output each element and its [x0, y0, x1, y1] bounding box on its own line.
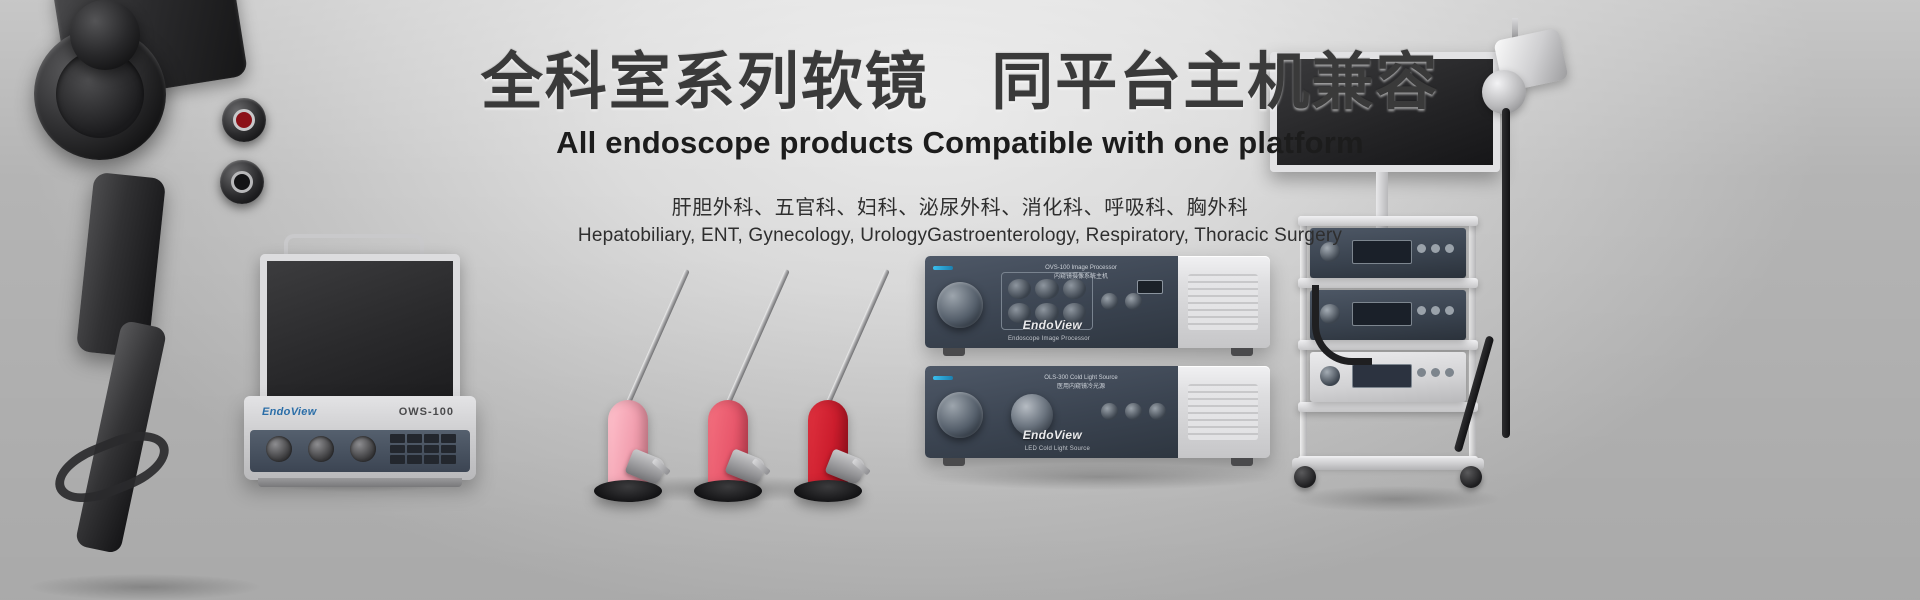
light-source-button: [1125, 403, 1142, 420]
keypad-key: [407, 455, 422, 464]
processor-status-lamp: [933, 266, 953, 270]
processor-title-text: OVS-100 Image Processor 内窥镜摄像系统主机: [1021, 264, 1141, 282]
module-knob: [1320, 366, 1340, 386]
keypad-key: [441, 434, 456, 443]
keypad-key: [390, 445, 405, 454]
processor-title-en: OVS-100 Image Processor: [1045, 265, 1117, 271]
light-source-output-port: [937, 392, 983, 438]
light-source-feet: [943, 458, 1253, 466]
banner-stage: 全科室系列软镜 同平台主机兼容 All endoscope products C…: [0, 0, 1920, 600]
processor-feet: [943, 348, 1253, 356]
headline-part-1: 全科室系列软镜: [481, 48, 929, 117]
shadow-endoscope: [30, 574, 260, 600]
workstation-display: [260, 254, 460, 404]
processor-button-grid: [1008, 279, 1086, 323]
mounted-endoscope-shaft-bend: [1454, 335, 1495, 453]
light-source-front-face: OLS-300 Cold Light Source 医用内窥镜冷光源 EndoV…: [925, 366, 1178, 458]
keypad-key: [407, 434, 422, 443]
module-button: [1431, 306, 1440, 315]
workstation-port-3: [350, 436, 376, 462]
subheadline-english: All endoscope products Compatible with o…: [0, 125, 1920, 161]
keypad-key: [424, 455, 439, 464]
workstation-model-label: OWS-100: [399, 406, 454, 418]
processor-brand-sub: Endoscope Image Processor: [1008, 336, 1090, 342]
processor-front-face: OVS-100 Image Processor 内窥镜摄像系统主机 EndoVi…: [925, 256, 1178, 348]
module-button: [1417, 306, 1426, 315]
module-display: [1352, 364, 1412, 388]
workstation-keypad: [390, 434, 456, 464]
trolley-caster-wheel-left: [1294, 466, 1316, 488]
keypad-key: [441, 445, 456, 454]
light-source-title-en: OLS-300 Cold Light Source: [1044, 375, 1117, 381]
light-source-brand-label: EndoView: [1023, 428, 1082, 442]
light-source-title-text: OLS-300 Cold Light Source 医用内窥镜冷光源: [1021, 374, 1141, 392]
keypad-key: [441, 455, 456, 464]
processor-button: [1008, 279, 1031, 299]
processor-button: [1063, 279, 1086, 299]
light-source-button: [1101, 403, 1118, 420]
keypad-key: [424, 434, 439, 443]
processor-small-button: [1101, 293, 1118, 310]
processor-main-knob: [937, 282, 983, 328]
light-source-vent-grille: [1188, 384, 1258, 440]
departments-english: Hepatobiliary, ENT, Gynecology, UrologyG…: [0, 225, 1920, 247]
departments-chinese: 肝胆外科、五官科、妇科、泌尿外科、消化科、呼吸科、胸外科: [0, 191, 1920, 220]
banner-copy: 全科室系列软镜 同平台主机兼容 All endoscope products C…: [0, 48, 1920, 247]
product-processor-stack: OVS-100 Image Processor 内窥镜摄像系统主机 EndoVi…: [925, 256, 1270, 471]
light-source-brand-sub: LED Cold Light Source: [1025, 446, 1090, 452]
product-hand-tool-3: [712, 258, 852, 488]
processor-title-cn: 内窥镜摄像系统主机: [1054, 274, 1108, 280]
workstation-foot: [258, 478, 462, 487]
keypad-key: [407, 445, 422, 454]
processor-usb-port: [1137, 280, 1163, 294]
module-button: [1431, 368, 1440, 377]
keypad-key: [390, 455, 405, 464]
keypad-key: [390, 434, 405, 443]
workstation-port-2: [308, 436, 334, 462]
headline: 全科室系列软镜 同平台主机兼容: [0, 48, 1920, 117]
processor-vent-grille: [1188, 274, 1258, 330]
product-workstation-ows: EndoView OWS-100: [238, 246, 478, 486]
tool-shaft: [820, 269, 890, 417]
processor-button: [1035, 279, 1058, 299]
processor-small-button: [1125, 293, 1142, 310]
headline-part-2: 同平台主机兼容: [991, 48, 1439, 117]
tool-stand-base: [794, 480, 862, 502]
trolley-caster-wheel-right: [1460, 466, 1482, 488]
workstation-base: EndoView OWS-100: [244, 396, 476, 480]
light-source-button: [1149, 403, 1166, 420]
workstation-port-1: [266, 436, 292, 462]
module-button: [1417, 368, 1426, 377]
product-image-processor: OVS-100 Image Processor 内窥镜摄像系统主机 EndoVi…: [925, 256, 1270, 348]
product-cold-light-source: OLS-300 Cold Light Source 医用内窥镜冷光源 EndoV…: [925, 366, 1270, 458]
light-source-status-lamp: [933, 376, 953, 380]
processor-brand-label: EndoView: [1023, 318, 1082, 332]
light-source-buttons: [1101, 396, 1167, 426]
light-source-title-cn: 医用内窥镜冷光源: [1057, 384, 1105, 390]
workstation-brand-label: EndoView: [262, 406, 317, 418]
keypad-key: [424, 445, 439, 454]
